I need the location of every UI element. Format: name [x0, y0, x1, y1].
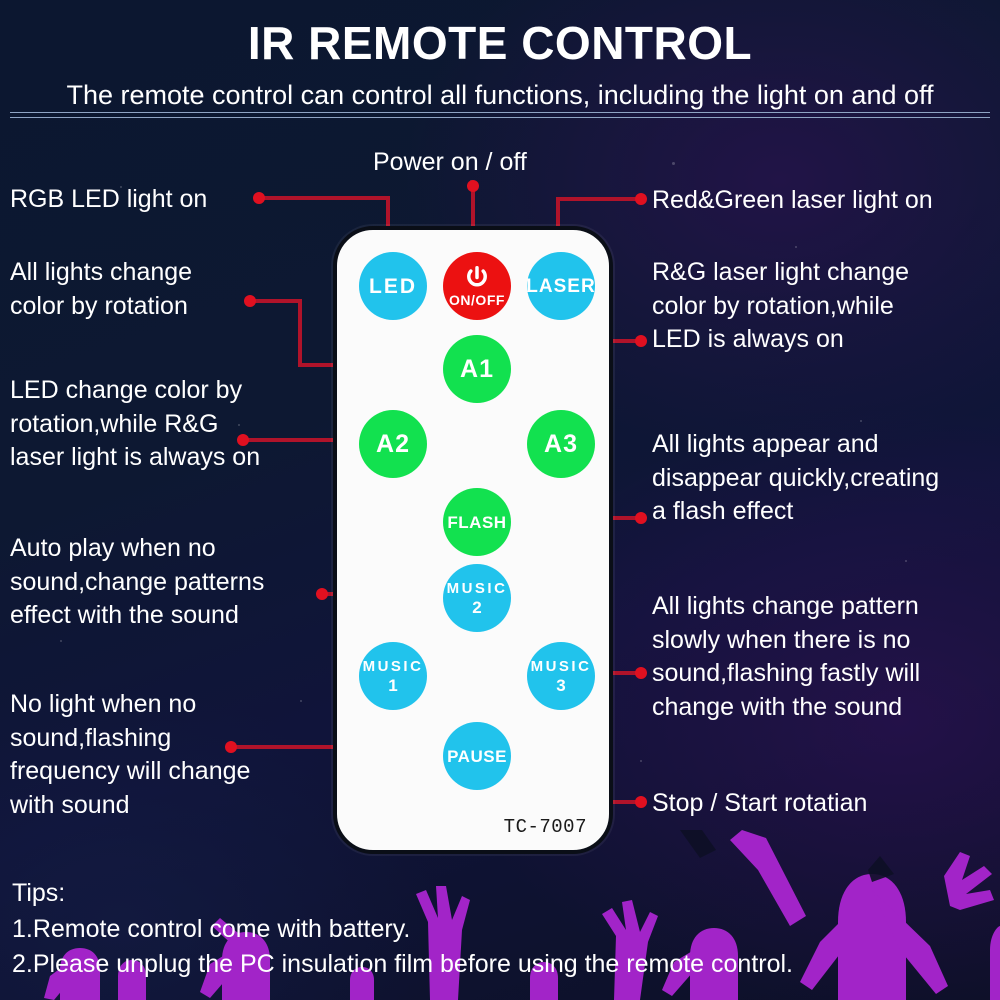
button-flash[interactable]: FLASH [443, 488, 511, 556]
button-led-label: LED [369, 276, 417, 297]
button-a1[interactable]: A1 [443, 335, 511, 403]
callout-rgb-led-light-on: RGB LED light on [10, 183, 207, 217]
poster-canvas: IR REMOTE CONTROL The remote control can… [0, 0, 1000, 1000]
button-laser[interactable]: LASER [527, 252, 595, 320]
button-laser-label: LASER [526, 277, 595, 296]
button-music3-number: 3 [556, 677, 565, 694]
button-power[interactable]: ON/OFF [443, 252, 511, 320]
button-music3-label: MUSIC [531, 659, 592, 674]
button-music3[interactable]: MUSIC 3 [527, 642, 595, 710]
button-music1[interactable]: MUSIC 1 [359, 642, 427, 710]
button-power-label: ON/OFF [449, 293, 505, 307]
button-pause-label: PAUSE [447, 748, 507, 765]
remote-control-body: LED ON/OFF LASER A1 A2 A3 FLASH MUSIC 2 [333, 226, 613, 854]
button-led[interactable]: LED [359, 252, 427, 320]
button-flash-label: FLASH [447, 514, 506, 531]
callout-all-lights-change-slowly: All lights change pattern slowly when th… [652, 590, 920, 724]
button-a1-label: A1 [460, 357, 494, 382]
callout-power-on-off: Power on / off [373, 146, 527, 180]
button-a2-label: A2 [376, 432, 410, 457]
button-a2[interactable]: A2 [359, 410, 427, 478]
callout-no-light-no-sound: No light when no sound,flashing frequenc… [10, 688, 250, 822]
remote-model-number: TC-7007 [504, 816, 587, 838]
button-a3[interactable]: A3 [527, 410, 595, 478]
callout-auto-play-no-sound: Auto play when no sound,change patterns … [10, 532, 264, 633]
header: IR REMOTE CONTROL The remote control can… [0, 0, 1000, 109]
button-music2-label: MUSIC [447, 581, 508, 596]
header-divider [10, 112, 990, 118]
callout-rg-laser-change-rotation: R&G laser light change color by rotation… [652, 256, 909, 357]
power-icon [464, 265, 490, 291]
button-music1-number: 1 [388, 677, 397, 694]
callout-red-green-laser-on: Red&Green laser light on [652, 184, 933, 218]
button-a3-label: A3 [544, 432, 578, 457]
callout-all-lights-change-rotation: All lights change color by rotation [10, 256, 192, 323]
page-subtitle: The remote control can control all funct… [0, 82, 1000, 109]
callout-stop-start-rotation: Stop / Start rotatian [652, 787, 867, 821]
tips-block: Tips: 1.Remote control come with battery… [12, 876, 793, 983]
page-title: IR REMOTE CONTROL [0, 20, 1000, 66]
button-music2-number: 2 [472, 599, 481, 616]
button-pause[interactable]: PAUSE [443, 722, 511, 790]
button-music2[interactable]: MUSIC 2 [443, 564, 511, 632]
button-music1-label: MUSIC [363, 659, 424, 674]
callout-all-lights-flash: All lights appear and disappear quickly,… [652, 428, 939, 529]
callout-led-change-color-rotation: LED change color by rotation,while R&G l… [10, 374, 260, 475]
